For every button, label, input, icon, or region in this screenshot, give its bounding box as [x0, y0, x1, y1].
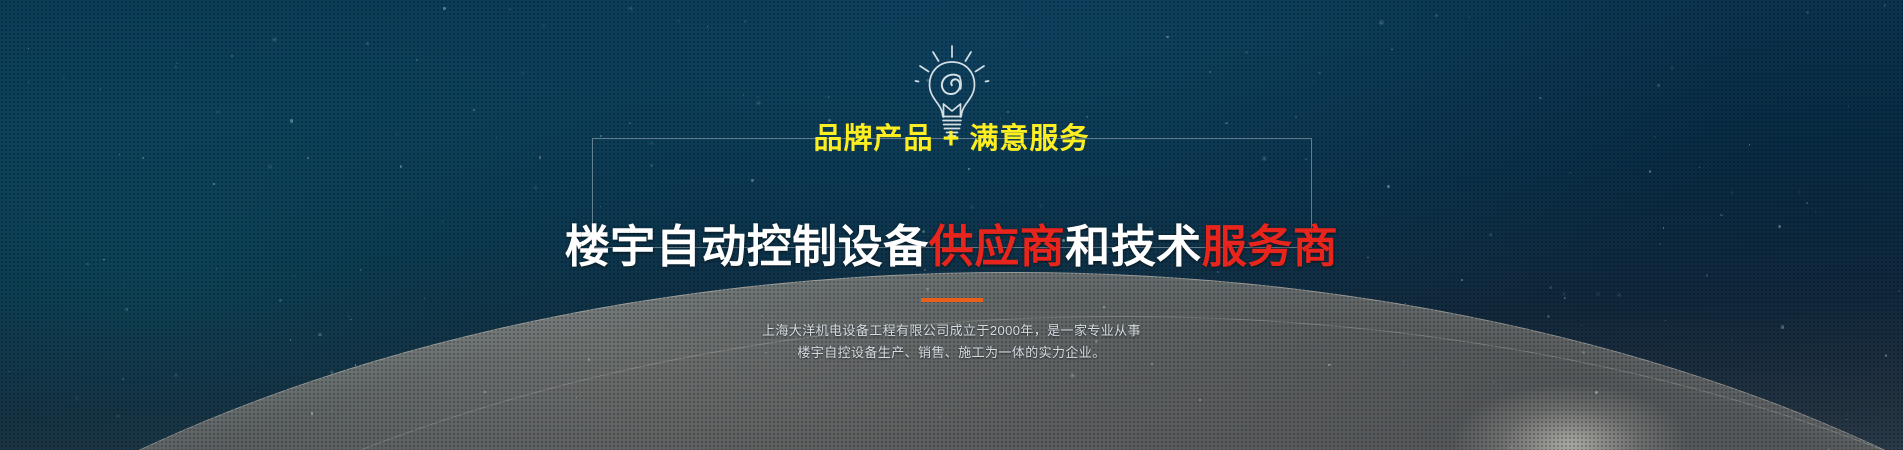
banner-headline: 楼宇自动控制设备供应商和技术服务商 — [555, 217, 1349, 277]
banner-description: 上海大洋机电设备工程有限公司成立于2000年，是一家专业从事 楼宇自控设备生产、… — [762, 320, 1141, 364]
headline-segment-4: 服务商 — [1202, 221, 1339, 272]
hero-banner: 品牌产品 + 满意服务 楼宇自动控制设备供应商和技术服务商 上海大洋机电设备工程… — [0, 0, 1903, 450]
description-line-1: 上海大洋机电设备工程有限公司成立于2000年，是一家专业从事 — [762, 320, 1141, 342]
headline-segment-1: 楼宇自动控制设备 — [565, 221, 929, 272]
headline-frame: 品牌产品 + 满意服务 楼宇自动控制设备供应商和技术服务商 — [592, 138, 1312, 248]
description-line-2: 楼宇自控设备生产、销售、施工为一体的实力企业。 — [762, 342, 1141, 364]
headline-segment-3: 和技术 — [1065, 221, 1202, 272]
orange-divider — [921, 298, 983, 302]
headline-segment-2: 供应商 — [929, 221, 1066, 272]
banner-content: 品牌产品 + 满意服务 楼宇自动控制设备供应商和技术服务商 上海大洋机电设备工程… — [0, 0, 1903, 450]
banner-tagline: 品牌产品 + 满意服务 — [797, 119, 1105, 159]
